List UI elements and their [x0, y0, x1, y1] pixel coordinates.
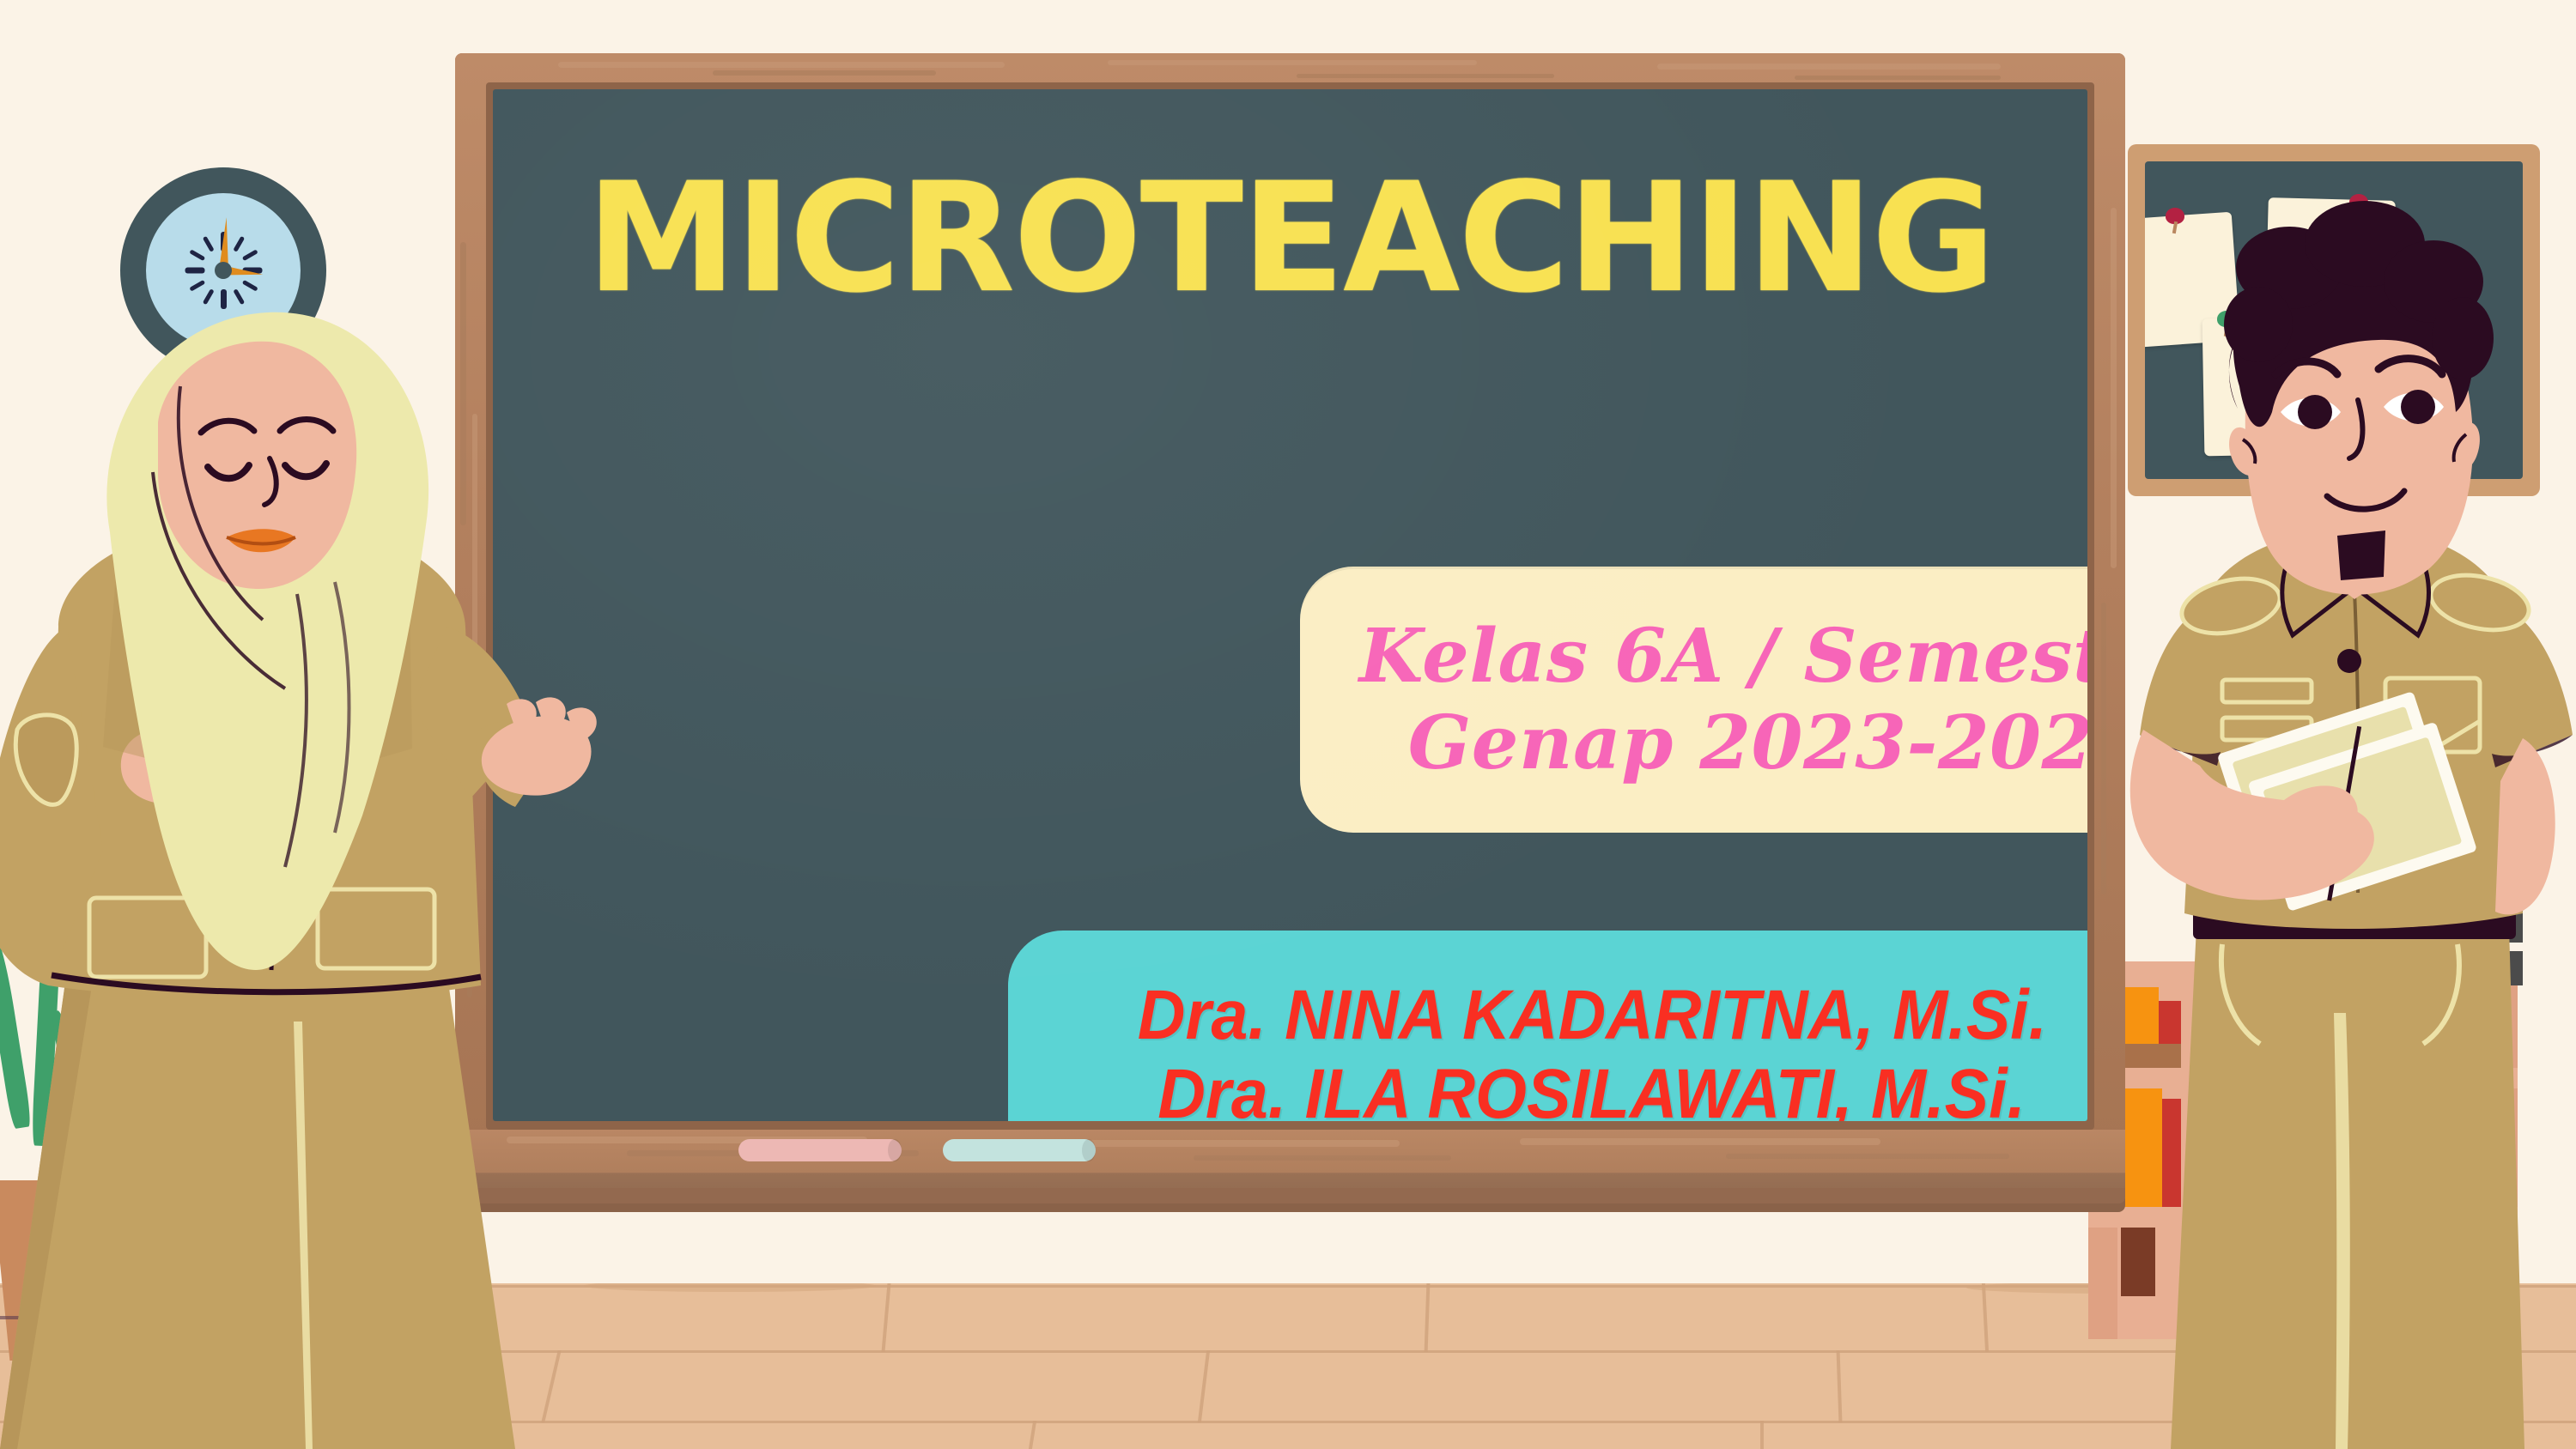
clock-center-hub: [215, 262, 232, 279]
mint-chalk[interactable]: [943, 1139, 1096, 1161]
pushpin-icon: [2166, 208, 2184, 230]
teacher-names-card[interactable]: Dra. NINA KADARITNA, M.Si. Dra. ILA ROSI…: [1008, 931, 2087, 1121]
class-info-text: Kelas 6A / Semester Genap 2023-2024: [1320, 613, 2087, 787]
teacher-name-1: Dra. NINA KADARITNA, M.Si.: [1137, 976, 2046, 1055]
class-info-line-1: Kelas 6A / Semester: [1359, 613, 2087, 700]
female-teacher-hijab: [0, 369, 584, 1449]
class-info-line-2: Genap 2023-2024: [1408, 700, 2087, 786]
chalkboard-ledge: [455, 1130, 2125, 1203]
slide-canvas: MICROTEACHING Kelas 6A / Semester Genap …: [0, 0, 2576, 1449]
class-info-card[interactable]: Kelas 6A / Semester Genap 2023-2024: [1300, 567, 2087, 833]
slide-title: MICROTEACHING: [493, 163, 2087, 314]
teacher-name-2: Dra. ILA ROSILAWATI, M.Si.: [1158, 1055, 2026, 1121]
male-teacher-with-books: [2121, 378, 2576, 1449]
chalkboard[interactable]: MICROTEACHING Kelas 6A / Semester Genap …: [455, 53, 2125, 1203]
chalkboard-surface: MICROTEACHING Kelas 6A / Semester Genap …: [493, 89, 2087, 1121]
pink-chalk[interactable]: [738, 1139, 902, 1161]
